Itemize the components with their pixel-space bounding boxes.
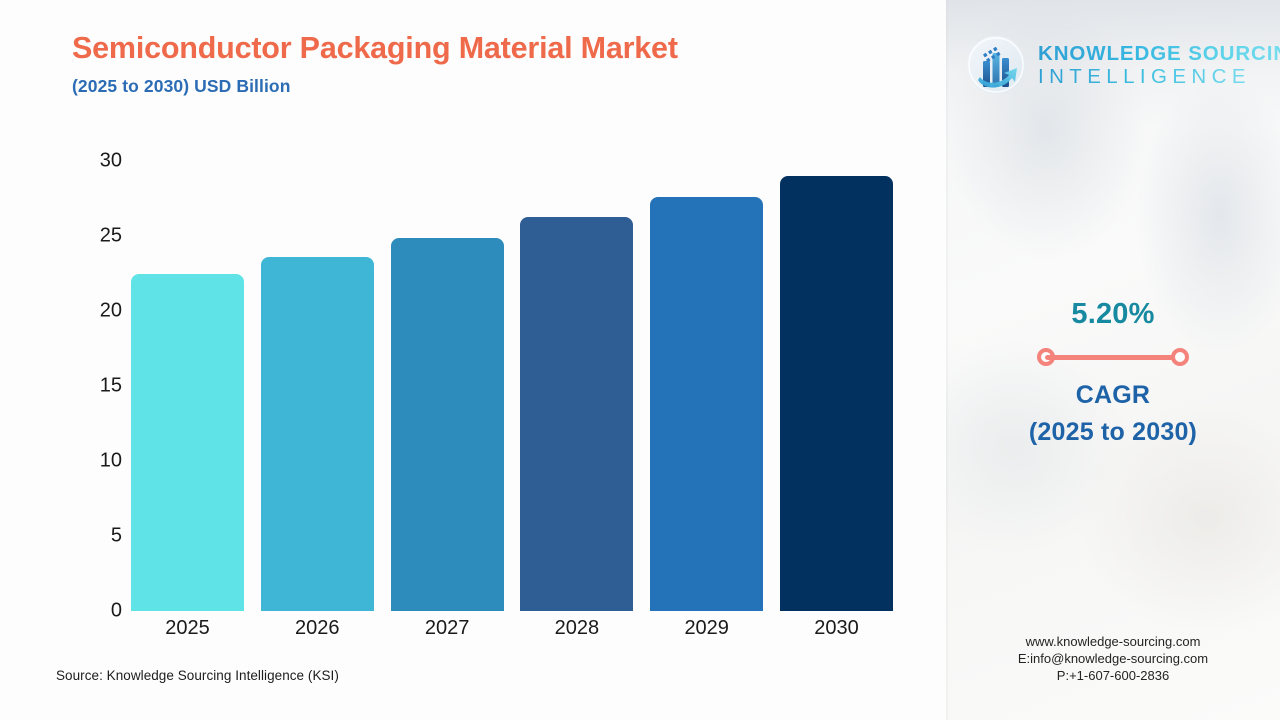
x-axis-label-2028: 2028	[555, 617, 600, 640]
bar-2030	[780, 176, 893, 611]
cagr-period: (2025 to 2030)	[946, 418, 1280, 447]
y-axis-tick-label: 15	[62, 375, 122, 398]
chart-panel: Semiconductor Packaging Material Market …	[0, 0, 946, 720]
knowledge-sourcing-logo-icon	[964, 33, 1028, 97]
x-axis-label-2025: 2025	[165, 617, 210, 640]
y-axis-ticks: 051015202530	[62, 0, 122, 720]
bar-2029	[650, 197, 763, 611]
y-axis-tick-label: 25	[62, 225, 122, 248]
contact-phone: P:+1-607-600-2836	[946, 667, 1280, 684]
cagr-connector-line	[1045, 355, 1181, 360]
bar-2028	[520, 217, 633, 612]
bar-2026	[261, 257, 374, 611]
cagr-connector-icon	[1037, 347, 1189, 367]
bar-2025	[131, 274, 244, 612]
brand-logo-line1: KNOWLEDGE SOURCING	[1038, 43, 1280, 65]
cagr-connector-dot-right	[1171, 348, 1189, 366]
brand-logo-text: KNOWLEDGE SOURCING INTELLIGENCE	[1038, 43, 1280, 87]
bar-chart-plot: 051015202530 202520262027202820292030	[0, 0, 946, 720]
infographic-page: Semiconductor Packaging Material Market …	[0, 0, 1280, 720]
contact-email[interactable]: E:info@knowledge-sourcing.com	[946, 650, 1280, 667]
contact-block: www.knowledge-sourcing.com E:info@knowle…	[946, 633, 1280, 684]
y-axis-tick-label: 30	[62, 150, 122, 173]
y-axis-tick-label: 20	[62, 300, 122, 323]
y-axis-tick-label: 0	[62, 600, 122, 623]
x-axis-label-2030: 2030	[814, 617, 859, 640]
brand-logo: KNOWLEDGE SOURCING INTELLIGENCE	[964, 28, 1264, 102]
y-axis-tick-label: 5	[62, 525, 122, 548]
cagr-label: CAGR	[946, 381, 1280, 410]
cagr-block: 5.20% CAGR (2025 to 2030)	[946, 298, 1280, 447]
x-axis-label-2029: 2029	[684, 617, 729, 640]
source-note: Source: Knowledge Sourcing Intelligence …	[56, 668, 339, 683]
y-axis-tick-label: 10	[62, 450, 122, 473]
brand-panel: KNOWLEDGE SOURCING INTELLIGENCE 5.20% CA…	[946, 0, 1280, 720]
x-axis-label-2027: 2027	[425, 617, 470, 640]
brand-logo-line2: INTELLIGENCE	[1038, 66, 1280, 88]
bar-2027	[391, 238, 504, 612]
contact-website[interactable]: www.knowledge-sourcing.com	[946, 633, 1280, 650]
x-axis-label-2026: 2026	[295, 617, 340, 640]
cagr-value: 5.20%	[946, 298, 1280, 331]
